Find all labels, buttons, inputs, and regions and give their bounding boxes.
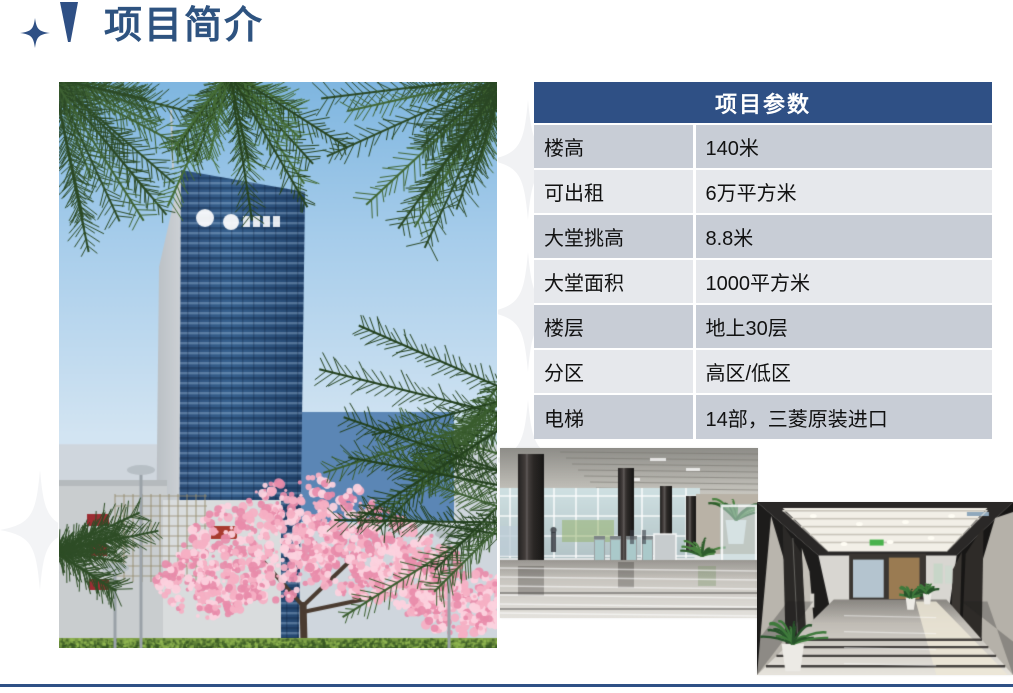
table-cell-value: 140米	[694, 124, 992, 169]
table-row: 电梯14部，三菱原装进口	[534, 394, 992, 439]
table-cell-key: 大堂面积	[534, 259, 694, 304]
parameter-table: 项目参数 楼高140米可出租6万平方米大堂挑高8.8米大堂面积1000平方米楼层…	[534, 82, 992, 439]
table-row: 楼高140米	[534, 124, 992, 169]
spike-icon	[58, 2, 80, 47]
sparkle-icon	[20, 18, 50, 53]
table-title: 项目参数	[534, 82, 992, 124]
table-row: 可出租6万平方米	[534, 169, 992, 214]
photo-lobby	[500, 448, 758, 618]
bottom-accent-rule	[0, 684, 1013, 687]
photo-tower	[59, 82, 497, 648]
table-cell-key: 楼高	[534, 124, 694, 169]
photo-elevator	[757, 502, 1013, 675]
table-cell-value: 6万平方米	[694, 169, 992, 214]
table-cell-value: 地上30层	[694, 304, 992, 349]
table-body: 楼高140米可出租6万平方米大堂挑高8.8米大堂面积1000平方米楼层地上30层…	[534, 124, 992, 439]
table-row: 大堂挑高8.8米	[534, 214, 992, 259]
table-cell-key: 楼层	[534, 304, 694, 349]
table-cell-value: 高区/低区	[694, 349, 992, 394]
table-cell-key: 大堂挑高	[534, 214, 694, 259]
slide-root: 项目简介 项目参数 楼高140米可出租6万平方米大堂挑高8.8米大堂面积1000…	[0, 0, 1013, 693]
table-cell-key: 分区	[534, 349, 694, 394]
table-cell-key: 可出租	[534, 169, 694, 214]
title-row: 项目简介	[0, 0, 560, 60]
page-title: 项目简介	[104, 2, 264, 50]
table-cell-key: 电梯	[534, 394, 694, 439]
table-cell-value: 14部，三菱原装进口	[694, 394, 992, 439]
table-row: 分区高区/低区	[534, 349, 992, 394]
table-cell-value: 8.8米	[694, 214, 992, 259]
table-cell-value: 1000平方米	[694, 259, 992, 304]
table-row: 楼层地上30层	[534, 304, 992, 349]
table-header-row: 项目参数	[534, 82, 992, 124]
table-row: 大堂面积1000平方米	[534, 259, 992, 304]
